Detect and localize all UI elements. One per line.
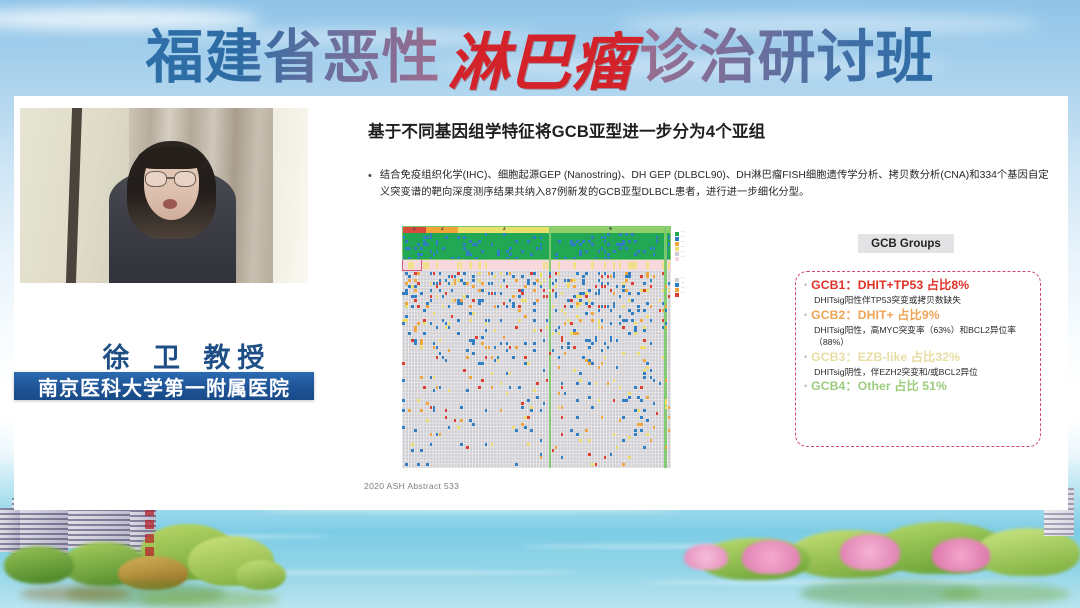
oncoprint-cell bbox=[509, 247, 512, 250]
oncoprint-cell bbox=[533, 342, 536, 345]
oncoprint-cell bbox=[622, 463, 625, 466]
oncoprint-cell bbox=[619, 419, 622, 422]
oncoprint-cell bbox=[466, 356, 469, 359]
oncoprint-cell bbox=[491, 292, 494, 295]
oncoprint-cell bbox=[582, 240, 585, 243]
oncoprint-cell bbox=[457, 426, 460, 429]
oncoprint-cell bbox=[466, 282, 469, 285]
oncoprint-cell bbox=[564, 322, 567, 325]
water-reflection bbox=[20, 586, 130, 602]
oncoprint-cell bbox=[546, 295, 549, 298]
oncoprint-cell bbox=[555, 309, 558, 312]
oncoprint-cell bbox=[601, 349, 604, 352]
oncoprint-cell bbox=[524, 342, 527, 345]
gcb-group-heading: GCB1：DHIT+TP53 占比8% bbox=[811, 278, 1030, 293]
oncoprint-cell bbox=[653, 247, 656, 250]
oncoprint-cell bbox=[469, 305, 472, 308]
oncoprint-cell bbox=[555, 285, 558, 288]
oncoprint-cell bbox=[408, 409, 411, 412]
oncoprint-cell bbox=[650, 342, 653, 345]
oncoprint-cell bbox=[500, 285, 503, 288]
oncoprint-cell bbox=[439, 386, 442, 389]
oncoprint-cell bbox=[472, 352, 475, 355]
oncoprint-cell bbox=[442, 356, 445, 359]
oncoprint-cell bbox=[439, 352, 442, 355]
oncoprint-cell bbox=[595, 463, 598, 466]
oncoprint-cell bbox=[540, 439, 543, 442]
oncoprint-cell bbox=[552, 282, 555, 285]
oncoprint-cell bbox=[408, 247, 411, 250]
building-block bbox=[0, 508, 20, 552]
oncoprint-cell bbox=[497, 359, 500, 362]
oncoprint-cell bbox=[521, 275, 524, 278]
oncoprint-cell bbox=[485, 346, 488, 349]
oncoprint-cell bbox=[546, 319, 549, 322]
oncoprint-cell bbox=[607, 305, 610, 308]
oncoprint-cell bbox=[625, 247, 628, 250]
oncoprint-cell bbox=[448, 282, 451, 285]
oncoprint-cell bbox=[512, 356, 515, 359]
oncoprint-legend-label: —— bbox=[681, 237, 685, 239]
oncoprint-cluster-bar: 1234 bbox=[402, 226, 671, 233]
gcb-group-heading: GCB2：DHIT+ 占比9% bbox=[811, 308, 1030, 323]
oncoprint-cell bbox=[637, 352, 640, 355]
oncoprint-cell bbox=[643, 346, 646, 349]
oncoprint-cell bbox=[595, 382, 598, 385]
oncoprint-cell bbox=[481, 336, 484, 339]
oncoprint-cell bbox=[591, 302, 594, 305]
oncoprint-cell bbox=[543, 295, 546, 298]
oncoprint-cell bbox=[634, 332, 637, 335]
oncoprint-cell bbox=[668, 236, 671, 239]
oncoprint-cell bbox=[420, 342, 423, 345]
oncoprint-cell bbox=[506, 392, 509, 395]
glasses-lens-left bbox=[145, 171, 167, 187]
oncoprint-cell bbox=[521, 406, 524, 409]
oncoprint-cell bbox=[552, 449, 555, 452]
oncoprint-cell bbox=[423, 386, 426, 389]
oncoprint-cell bbox=[408, 275, 411, 278]
oncoprint-cell bbox=[619, 233, 622, 236]
oncoprint-cell bbox=[524, 299, 527, 302]
oncoprint-cell bbox=[561, 346, 564, 349]
oncoprint-cell bbox=[439, 272, 442, 275]
oncoprint-cell bbox=[668, 406, 671, 409]
oncoprint-cell bbox=[543, 279, 546, 282]
gcb-group-detail: DHITsig阴性，伴EZH2突变和/或BCL2异位 bbox=[811, 366, 1030, 379]
oncoprint-cell bbox=[591, 243, 594, 246]
oncoprint-cell bbox=[402, 426, 405, 429]
oncoprint-cell bbox=[485, 443, 488, 446]
oncoprint-cell bbox=[552, 289, 555, 292]
oncoprint-cell bbox=[466, 389, 469, 392]
oncoprint-cell bbox=[604, 342, 607, 345]
oncoprint-cell bbox=[402, 362, 405, 365]
oncoprint-cell bbox=[433, 376, 436, 379]
oncoprint-cell bbox=[650, 369, 653, 372]
oncoprint-cell bbox=[454, 275, 457, 278]
oncoprint-cell bbox=[555, 272, 558, 275]
oncoprint-cell bbox=[546, 379, 549, 382]
cherry-blossom bbox=[932, 538, 990, 572]
oncoprint-cell bbox=[653, 275, 656, 278]
oncoprint-cell bbox=[445, 292, 448, 295]
oncoprint-cell bbox=[656, 240, 659, 243]
oncoprint-cell bbox=[552, 332, 555, 335]
oncoprint-cell bbox=[466, 295, 469, 298]
oncoprint-cell bbox=[588, 346, 591, 349]
oncoprint-cell bbox=[579, 439, 582, 442]
oncoprint-cell bbox=[643, 409, 646, 412]
oncoprint-cell bbox=[494, 305, 497, 308]
oncoprint-cell bbox=[604, 456, 607, 459]
oncoprint-cell bbox=[481, 379, 484, 382]
presenter-video-feed[interactable] bbox=[20, 108, 308, 283]
oncoprint-cell bbox=[515, 240, 518, 243]
oncoprint-cell bbox=[430, 443, 433, 446]
oncoprint-cell bbox=[408, 279, 411, 282]
oncoprint-cell bbox=[653, 402, 656, 405]
oncoprint-cell bbox=[631, 282, 634, 285]
oncoprint-cell bbox=[402, 409, 405, 412]
oncoprint-cell bbox=[567, 346, 570, 349]
oncoprint-cell bbox=[637, 409, 640, 412]
oncoprint-cell bbox=[481, 250, 484, 253]
oncoprint-cell bbox=[543, 369, 546, 372]
oncoprint-cell bbox=[552, 305, 555, 308]
oncoprint-cell bbox=[451, 315, 454, 318]
oncoprint-cell bbox=[527, 282, 530, 285]
oncoprint-cell bbox=[616, 339, 619, 342]
oncoprint-cell bbox=[433, 253, 436, 256]
bullet-marker-icon: • bbox=[804, 379, 807, 394]
presenter-bangs bbox=[138, 147, 204, 170]
oncoprint-cell bbox=[481, 342, 484, 345]
oncoprint-cell bbox=[423, 309, 426, 312]
oncoprint-cell bbox=[417, 322, 420, 325]
oncoprint-cell bbox=[509, 386, 512, 389]
oncoprint-cell bbox=[488, 282, 491, 285]
oncoprint-cell bbox=[665, 379, 668, 382]
oncoprint-legend-label: —— bbox=[681, 257, 685, 259]
oncoprint-cell bbox=[564, 312, 567, 315]
oncoprint-cell bbox=[619, 262, 621, 269]
oncoprint-cell bbox=[426, 402, 429, 405]
oncoprint-cell bbox=[650, 439, 653, 442]
oncoprint-legend-key bbox=[675, 237, 679, 241]
oncoprint-cell bbox=[662, 309, 665, 312]
oncoprint-cell bbox=[601, 285, 604, 288]
oncoprint-cell bbox=[414, 295, 417, 298]
oncoprint-cluster-segment: 4 bbox=[550, 226, 671, 233]
oncoprint-cell bbox=[604, 262, 606, 269]
oncoprint-cell bbox=[595, 285, 598, 288]
oncoprint-cell bbox=[558, 406, 561, 409]
oncoprint-cell bbox=[494, 359, 497, 362]
oncoprint-cell bbox=[518, 309, 521, 312]
video-background-wall-right bbox=[273, 108, 308, 283]
oncoprint-cell bbox=[543, 289, 546, 292]
oncoprint-cell bbox=[491, 356, 494, 359]
oncoprint-cell bbox=[558, 240, 561, 243]
oncoprint-cell bbox=[610, 322, 613, 325]
oncoprint-cell bbox=[622, 285, 625, 288]
oncoprint-cell bbox=[445, 279, 448, 282]
gcb-group-detail: DHITsig阳性，高MYC突变率（63%）和BCL2异位率（88%） bbox=[811, 324, 1030, 349]
oncoprint-cell bbox=[533, 349, 536, 352]
oncoprint-cell bbox=[485, 322, 488, 325]
oncoprint-cell bbox=[643, 372, 646, 375]
oncoprint-cell bbox=[601, 362, 604, 365]
oncoprint-cell bbox=[420, 253, 423, 256]
oncoprint-cell bbox=[448, 349, 451, 352]
oncoprint-cell bbox=[546, 326, 549, 329]
gcb-groups-panel: • GCB1：DHIT+TP53 占比8% DHITsig阳性伴TP53突变或拷… bbox=[795, 271, 1041, 447]
oncoprint-cell bbox=[457, 332, 460, 335]
oncoprint-cell bbox=[619, 322, 622, 325]
oncoprint-cell bbox=[567, 342, 570, 345]
oncoprint-cell bbox=[640, 429, 643, 432]
oncoprint-cell bbox=[430, 406, 433, 409]
oncoprint-cell bbox=[561, 406, 564, 409]
oncoprint-cell bbox=[637, 250, 640, 253]
oncoprint-cell bbox=[439, 339, 442, 342]
gcb-group-heading: GCB4：Other 占比 51% bbox=[811, 379, 1030, 394]
oncoprint-cell bbox=[628, 392, 631, 395]
oncoprint-cell bbox=[527, 240, 530, 243]
oncoprint-cell bbox=[540, 247, 543, 250]
oncoprint-cell bbox=[460, 443, 463, 446]
oncoprint-cell bbox=[481, 282, 484, 285]
oncoprint-cell bbox=[549, 352, 552, 355]
oncoprint-cell bbox=[582, 282, 585, 285]
oncoprint-cell bbox=[561, 416, 564, 419]
oncoprint-cell bbox=[552, 349, 555, 352]
oncoprint-cell bbox=[500, 409, 503, 412]
oncoprint-cluster-label: 1 bbox=[402, 226, 426, 233]
oncoprint-cell bbox=[579, 319, 582, 322]
oncoprint-cell bbox=[524, 285, 527, 288]
oncoprint-cell bbox=[622, 416, 625, 419]
oncoprint-cell bbox=[616, 446, 619, 449]
oncoprint-cell bbox=[634, 240, 637, 243]
oncoprint-cell bbox=[591, 236, 594, 239]
oncoprint-cell bbox=[445, 322, 448, 325]
oncoprint-cell bbox=[668, 243, 671, 246]
oncoprint-cell bbox=[622, 439, 625, 442]
oncoprint-cell bbox=[439, 433, 442, 436]
oncoprint-cell bbox=[628, 292, 631, 295]
tree bbox=[236, 560, 286, 590]
oncoprint-cell bbox=[420, 292, 423, 295]
oncoprint-cell bbox=[524, 315, 527, 318]
oncoprint-cell bbox=[530, 409, 533, 412]
bullet-marker-icon: • bbox=[804, 308, 807, 349]
oncoprint-cell bbox=[481, 299, 484, 302]
oncoprint-cell bbox=[640, 319, 643, 322]
oncoprint-cell bbox=[598, 399, 601, 402]
oncoprint-cell bbox=[518, 295, 521, 298]
oncoprint-cell bbox=[643, 339, 646, 342]
oncoprint-cell bbox=[588, 289, 591, 292]
oncoprint-cell bbox=[512, 305, 515, 308]
oncoprint-cell bbox=[414, 342, 417, 345]
oncoprint-cell bbox=[558, 332, 561, 335]
oncoprint-cell bbox=[417, 399, 420, 402]
oncoprint-cell bbox=[417, 272, 420, 275]
oncoprint-legend-label: —— bbox=[681, 242, 685, 244]
oncoprint-cell bbox=[491, 243, 494, 246]
oncoprint-cell bbox=[436, 386, 439, 389]
oncoprint-cell bbox=[515, 463, 518, 466]
oncoprint-cluster-segment: 1 bbox=[402, 226, 426, 233]
oncoprint-cell bbox=[585, 312, 588, 315]
oncoprint-cell bbox=[463, 236, 466, 239]
oncoprint-cell bbox=[536, 279, 539, 282]
oncoprint-cluster-divider bbox=[664, 226, 667, 468]
oncoprint-cell bbox=[472, 423, 475, 426]
oncoprint-cell bbox=[585, 250, 588, 253]
oncoprint-cell bbox=[530, 429, 533, 432]
water-reflection bbox=[140, 590, 280, 608]
oncoprint-cell bbox=[494, 329, 497, 332]
oncoprint-cell bbox=[613, 399, 616, 402]
oncoprint-cell bbox=[494, 275, 497, 278]
oncoprint-cell bbox=[650, 376, 653, 379]
oncoprint-cell bbox=[460, 302, 463, 305]
oncoprint-cell bbox=[524, 356, 527, 359]
oncoprint-cell bbox=[585, 429, 588, 432]
oncoprint-cell bbox=[451, 289, 454, 292]
oncoprint-cell bbox=[478, 386, 481, 389]
oncoprint-cell bbox=[533, 319, 536, 322]
oncoprint-cell bbox=[527, 443, 530, 446]
oncoprint-cell bbox=[426, 305, 429, 308]
oncoprint-cell bbox=[442, 247, 445, 250]
oncoprint-cell bbox=[668, 282, 671, 285]
oncoprint-cell bbox=[561, 386, 564, 389]
oncoprint-cell bbox=[616, 366, 619, 369]
oncoprint-cell bbox=[665, 406, 668, 409]
oncoprint-cell bbox=[668, 289, 671, 292]
oncoprint-cell bbox=[613, 250, 616, 253]
oncoprint-cell bbox=[601, 319, 604, 322]
oncoprint-legend-key bbox=[675, 288, 679, 292]
gcb-group-item: • GCB4：Other 占比 51% bbox=[804, 379, 1030, 394]
oncoprint-cell bbox=[576, 416, 579, 419]
oncoprint-cell bbox=[533, 302, 536, 305]
oncoprint-cell bbox=[469, 376, 472, 379]
oncoprint-cluster-label: 4 bbox=[550, 226, 671, 233]
oncoprint-cell bbox=[430, 376, 433, 379]
oncoprint-cell bbox=[643, 309, 646, 312]
oncoprint-cell bbox=[445, 416, 448, 419]
oncoprint-cell bbox=[607, 282, 610, 285]
oncoprint-cell bbox=[625, 319, 628, 322]
oncoprint-cell bbox=[420, 376, 423, 379]
oncoprint-cell bbox=[506, 305, 509, 308]
oncoprint-cell bbox=[540, 275, 543, 278]
oncoprint-cell bbox=[543, 262, 545, 269]
oncoprint-cell bbox=[595, 292, 598, 295]
oncoprint-cell bbox=[646, 302, 649, 305]
oncoprint-legend-key bbox=[675, 252, 679, 256]
oncoprint-cell bbox=[436, 295, 439, 298]
oncoprint-cell bbox=[509, 372, 512, 375]
oncoprint-cell bbox=[579, 295, 582, 298]
oncoprint-cell bbox=[656, 412, 659, 415]
oncoprint-cell bbox=[662, 319, 665, 322]
oncoprint-cell bbox=[414, 299, 417, 302]
oncoprint-cell bbox=[607, 346, 610, 349]
oncoprint-cell bbox=[411, 443, 414, 446]
oncoprint-cell bbox=[430, 433, 433, 436]
oncoprint-cell bbox=[628, 262, 630, 269]
oncoprint-cell bbox=[610, 453, 613, 456]
oncoprint-cell bbox=[433, 312, 436, 315]
oncoprint-cell bbox=[448, 426, 451, 429]
oncoprint-cell bbox=[637, 309, 640, 312]
oncoprint-cell bbox=[423, 262, 425, 269]
oncoprint-cell bbox=[591, 319, 594, 322]
oncoprint-cell bbox=[405, 292, 408, 295]
oncoprint-cell bbox=[540, 409, 543, 412]
oncoprint-cell bbox=[570, 429, 573, 432]
oncoprint-cell bbox=[414, 289, 417, 292]
oncoprint-legend-key bbox=[675, 247, 679, 251]
slide-bullet-text: 结合免疫组织化学(IHC)、细胞起源GEP (Nanostring)、DH GE… bbox=[380, 168, 1054, 201]
oncoprint-cell bbox=[643, 282, 646, 285]
oncoprint-cell bbox=[607, 275, 610, 278]
oncoprint-cell bbox=[414, 285, 417, 288]
oncoprint-cell bbox=[454, 282, 457, 285]
oncoprint-cell bbox=[430, 295, 433, 298]
oncoprint-cell bbox=[445, 359, 448, 362]
oncoprint-cell bbox=[414, 329, 417, 332]
oncoprint-cell bbox=[530, 253, 533, 256]
oncoprint-cell bbox=[646, 433, 649, 436]
oncoprint-cell bbox=[653, 253, 656, 256]
oncoprint-cell bbox=[607, 382, 610, 385]
oncoprint-cell bbox=[598, 250, 601, 253]
oncoprint-cell bbox=[436, 262, 438, 269]
oncoprint-cell bbox=[448, 322, 451, 325]
oncoprint-cell bbox=[598, 279, 601, 282]
oncoprint-cell bbox=[524, 426, 527, 429]
oncoprint-cell bbox=[573, 346, 576, 349]
oncoprint-cell bbox=[640, 275, 643, 278]
oncoprint-cell bbox=[405, 319, 408, 322]
oncoprint-cell bbox=[533, 236, 536, 239]
slide-source-citation: 2020 ASH Abstract 533 bbox=[364, 481, 459, 491]
oncoprint-cell bbox=[436, 326, 439, 329]
oncoprint-cell bbox=[481, 289, 484, 292]
water-reflection bbox=[940, 584, 1070, 604]
oncoprint-cell bbox=[439, 282, 442, 285]
oncoprint-cell bbox=[591, 463, 594, 466]
oncoprint-cell bbox=[631, 299, 634, 302]
oncoprint-cell bbox=[414, 247, 417, 250]
oncoprint-cell bbox=[634, 262, 636, 269]
oncoprint-cell bbox=[417, 282, 420, 285]
oncoprint-cell bbox=[579, 379, 582, 382]
oncoprint-cell bbox=[521, 250, 524, 253]
oncoprint-cell bbox=[533, 389, 536, 392]
oncoprint-cell bbox=[448, 326, 451, 329]
oncoprint-cell bbox=[491, 443, 494, 446]
oncoprint-cell bbox=[436, 346, 439, 349]
oncoprint-cell bbox=[570, 322, 573, 325]
